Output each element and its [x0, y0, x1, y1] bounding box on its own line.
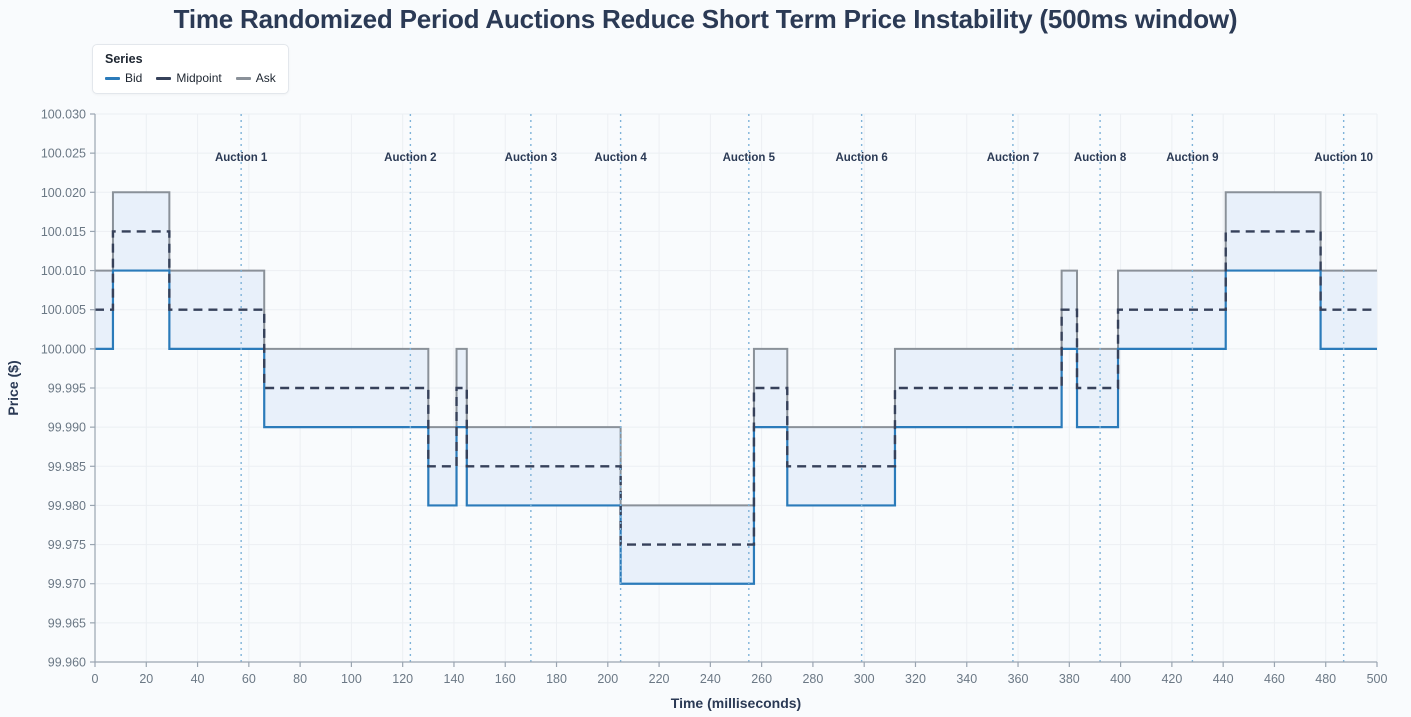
x-axis-tick-label: 280: [802, 672, 823, 686]
y-axis-tick-label: 100.010: [41, 264, 86, 278]
x-axis-tick-label: 320: [905, 672, 926, 686]
x-axis-tick-label: 340: [956, 672, 977, 686]
auction-label: Auction 8: [1074, 152, 1127, 164]
chart-plot-area: Auction 1Auction 2Auction 3Auction 4Auct…: [0, 0, 1411, 717]
y-axis: 99.96099.96599.97099.97599.98099.98599.9…: [41, 108, 95, 670]
auction-label: Auction 9: [1166, 152, 1218, 164]
y-axis-tick-label: 100.015: [41, 225, 86, 239]
x-axis-tick-label: 500: [1367, 672, 1388, 686]
y-axis-tick-label: 99.990: [48, 421, 86, 435]
y-axis-tick-label: 99.965: [48, 616, 86, 630]
x-axis-tick-label: 20: [139, 672, 153, 686]
x-axis-tick-label: 40: [191, 672, 205, 686]
x-axis-tick-label: 240: [700, 672, 721, 686]
x-axis: 0204060801001201401601802002202402602803…: [92, 662, 1388, 686]
auction-label: Auction 4: [594, 152, 647, 164]
y-axis-tick-label: 99.985: [48, 460, 86, 474]
auction-label: Auction 10: [1314, 152, 1373, 164]
auction-label: Auction 7: [987, 152, 1039, 164]
y-axis-tick-label: 99.960: [48, 656, 86, 670]
x-axis-tick-label: 260: [751, 672, 772, 686]
auction-label: Auction 1: [215, 152, 268, 164]
x-axis-tick-label: 180: [546, 672, 567, 686]
x-axis-tick-label: 480: [1315, 672, 1336, 686]
y-axis-tick-label: 100.025: [41, 147, 86, 161]
y-axis-tick-label: 99.975: [48, 538, 86, 552]
auction-label: Auction 6: [835, 152, 887, 164]
y-axis-tick-label: 100.020: [41, 186, 86, 200]
x-axis-tick-label: 100: [341, 672, 362, 686]
x-axis-tick-label: 0: [92, 672, 99, 686]
x-axis-tick-label: 120: [392, 672, 413, 686]
auction-label: Auction 5: [723, 152, 776, 164]
auction-label: Auction 3: [505, 152, 557, 164]
y-axis-tick-label: 99.980: [48, 499, 86, 513]
x-axis-tick-label: 300: [854, 672, 875, 686]
y-axis-tick-label: 100.030: [41, 108, 86, 122]
y-axis-tick-label: 100.000: [41, 342, 86, 356]
y-axis-title: Price ($): [5, 360, 21, 415]
y-axis-tick-label: 99.970: [48, 577, 86, 591]
x-axis-tick-label: 80: [293, 672, 307, 686]
x-axis-tick-label: 220: [649, 672, 670, 686]
x-axis-tick-label: 360: [1008, 672, 1029, 686]
chart-page: Time Randomized Period Auctions Reduce S…: [0, 0, 1411, 717]
x-axis-tick-label: 140: [444, 672, 465, 686]
x-axis-tick-label: 60: [242, 672, 256, 686]
x-axis-tick-label: 160: [495, 672, 516, 686]
x-axis-tick-label: 400: [1110, 672, 1131, 686]
y-axis-tick-label: 99.995: [48, 382, 86, 396]
x-axis-tick-label: 460: [1264, 672, 1285, 686]
spread-segment: [1077, 349, 1118, 427]
x-axis-tick-label: 420: [1161, 672, 1182, 686]
x-axis-tick-label: 200: [597, 672, 618, 686]
x-axis-title: Time (milliseconds): [671, 695, 801, 711]
y-axis-tick-label: 100.005: [41, 303, 86, 317]
x-axis-tick-label: 440: [1213, 672, 1234, 686]
auction-label: Auction 2: [384, 152, 436, 164]
x-axis-tick-label: 380: [1059, 672, 1080, 686]
